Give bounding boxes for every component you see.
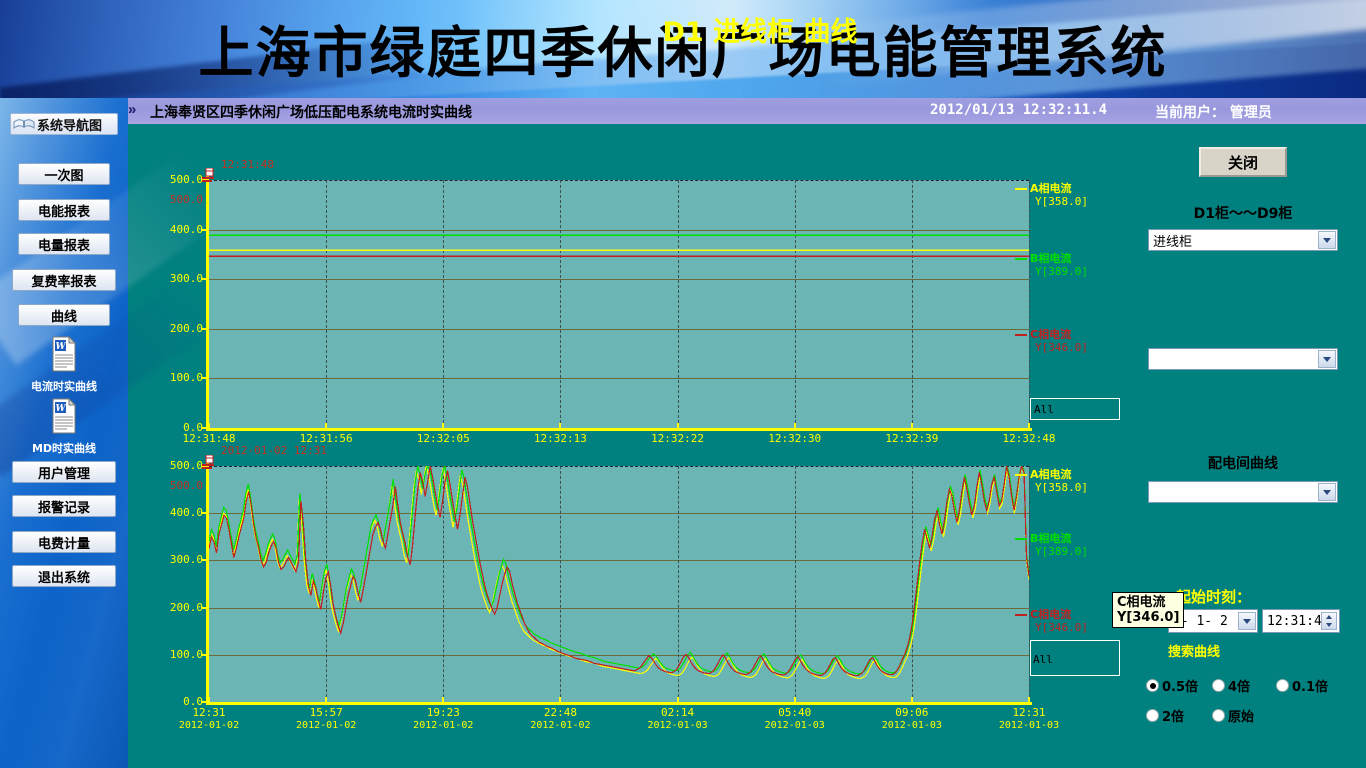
sidebar-btn-tariff-report[interactable]: 复费率报表 bbox=[12, 269, 116, 291]
radio-dot-icon bbox=[1212, 679, 1225, 692]
legend-entry-value: Y[358.0] bbox=[1030, 195, 1088, 208]
start-time-picker[interactable]: 12:31:48 bbox=[1262, 609, 1340, 633]
search-curve-label: 搜索曲线 bbox=[1168, 641, 1220, 660]
legend-color-swatch bbox=[1015, 538, 1027, 540]
x-tick-sublabel: 2012-01-02 bbox=[284, 720, 368, 731]
grid-line-horizontal bbox=[209, 230, 1029, 231]
x-tick-sublabel: 2012-01-02 bbox=[518, 720, 602, 731]
sidebar-btn-curve-label: 曲线 bbox=[51, 306, 77, 325]
x-tick-mark bbox=[1028, 697, 1030, 702]
x-tick-mark bbox=[325, 423, 327, 428]
sidebar-btn-tariff-report-label: 复费率报表 bbox=[31, 271, 96, 290]
sidebar-nav-header-label: 系统导航图 bbox=[37, 115, 102, 134]
sidebar-btn-energy-report[interactable]: 电能报表 bbox=[18, 199, 110, 221]
cabinet-select-d1-d9-value: 进线柜 bbox=[1153, 231, 1192, 250]
x-tick-mark bbox=[794, 697, 796, 702]
zoom-radio-0_5x-label: 0.5倍 bbox=[1162, 676, 1198, 695]
chevron-down-icon[interactable] bbox=[1318, 231, 1336, 249]
sidebar-btn-alarm-log[interactable]: 报警记录 bbox=[12, 495, 116, 517]
zoom-radio-original[interactable]: 原始 bbox=[1212, 706, 1254, 725]
legend-entry-name: B相电流 bbox=[1030, 532, 1088, 545]
sidebar-icon-current-realtime-curve-label: 电流时实曲线 bbox=[18, 378, 110, 394]
x-tick-label: 12:32:05 bbox=[401, 432, 485, 445]
x-tick-label: 12:32:30 bbox=[753, 432, 837, 445]
x-axis bbox=[206, 428, 1032, 431]
close-button-label: 关闭 bbox=[1228, 152, 1258, 173]
chevron-down-icon[interactable] bbox=[1318, 483, 1336, 501]
legend-color-swatch bbox=[1015, 334, 1027, 336]
sidebar-icon-current-realtime-curve[interactable]: W 电流时实曲线 bbox=[18, 336, 110, 394]
legend-entry-value: Y[389.0] bbox=[1030, 265, 1088, 278]
zoom-radio-0_1x[interactable]: 0.1倍 bbox=[1276, 676, 1328, 695]
series-canvas bbox=[209, 466, 1029, 702]
legend-entry-phase-c[interactable]: C相电流Y[346.0] bbox=[1030, 608, 1088, 634]
grid-line-vertical bbox=[678, 466, 679, 702]
x-tick-label: 12:31 bbox=[987, 706, 1071, 719]
cursor-time-stamp: 12:31:48 bbox=[221, 158, 274, 171]
word-document-icon: W bbox=[47, 421, 81, 438]
legend-entry-value: Y[389.0] bbox=[1030, 545, 1088, 558]
x-tick-mark bbox=[911, 697, 913, 702]
x-tick-sublabel: 2012-01-03 bbox=[753, 720, 837, 731]
secondary-y-label: 500.0 bbox=[147, 479, 203, 492]
sidebar-btn-billing[interactable]: 电费计量 bbox=[12, 531, 116, 553]
sidebar-btn-user-management[interactable]: 用户管理 bbox=[12, 461, 116, 483]
y-tick-mark bbox=[201, 512, 207, 514]
radio-dot-icon bbox=[1276, 679, 1289, 692]
grid-line-horizontal bbox=[209, 608, 1029, 609]
breadcrumb-bar: » 上海奉贤区四季休闲广场低压配电系统电流时实曲线 2012/01/13 12:… bbox=[0, 98, 1366, 124]
x-tick-mark bbox=[208, 697, 210, 702]
x-tick-sublabel: 2012-01-03 bbox=[636, 720, 720, 731]
x-tick-label: 12:32:39 bbox=[870, 432, 954, 445]
y-tick-mark bbox=[201, 465, 207, 467]
legend-entry-phase-b[interactable]: B相电流Y[389.0] bbox=[1030, 252, 1088, 278]
origin-time-stamp: 2012-01-02 12:31 bbox=[221, 444, 327, 457]
x-tick-label: 19:23 bbox=[401, 706, 485, 719]
all-series-box-bottom[interactable]: All bbox=[1030, 648, 1120, 670]
legend-entry-name: C相电流 bbox=[1030, 608, 1088, 621]
y-tick-label: 500.0 bbox=[147, 459, 203, 472]
grid-line-horizontal bbox=[209, 279, 1029, 280]
legend-color-swatch bbox=[1015, 258, 1027, 260]
sidebar-btn-alarm-log-label: 报警记录 bbox=[38, 497, 90, 516]
grid-line-horizontal bbox=[209, 513, 1029, 514]
x-tick-sublabel: 2012-01-02 bbox=[401, 720, 485, 731]
zoom-radio-0_1x-label: 0.1倍 bbox=[1292, 676, 1328, 695]
legend-color-swatch bbox=[1015, 188, 1027, 190]
x-tick-label: 12:32:13 bbox=[518, 432, 602, 445]
grid-line-horizontal bbox=[209, 378, 1029, 379]
sidebar-btn-exit[interactable]: 退出系统 bbox=[12, 565, 116, 587]
grid-line-horizontal bbox=[209, 655, 1029, 656]
radio-dot-icon bbox=[1212, 709, 1225, 722]
grid-line-vertical bbox=[443, 180, 444, 428]
x-tick-sublabel: 2012-01-03 bbox=[987, 720, 1071, 731]
word-document-icon: W bbox=[47, 359, 81, 376]
x-tick-mark bbox=[677, 697, 679, 702]
series-line-phase-a bbox=[209, 466, 1029, 678]
sidebar-btn-exit-label: 退出系统 bbox=[38, 567, 90, 586]
tooltip-line-1: C相电流 bbox=[1117, 595, 1179, 610]
group3-label: 配电间曲线 bbox=[1148, 453, 1338, 473]
sidebar-btn-quantity-report-label: 电量报表 bbox=[38, 235, 90, 254]
all-series-box-top[interactable]: All bbox=[1030, 398, 1120, 420]
spinner-up-down-icon[interactable] bbox=[1321, 612, 1337, 630]
series-line-phase-b bbox=[209, 466, 1029, 674]
y-tick-mark bbox=[201, 701, 207, 703]
x-tick-mark bbox=[559, 697, 561, 702]
grid-line-horizontal bbox=[209, 180, 1029, 181]
grid-line-horizontal bbox=[209, 466, 1029, 467]
sidebar-btn-user-management-label: 用户管理 bbox=[38, 463, 90, 482]
x-tick-mark bbox=[911, 423, 913, 428]
x-tick-mark bbox=[559, 423, 561, 428]
book-icon bbox=[13, 117, 35, 131]
y-axis bbox=[206, 462, 209, 705]
all-series-box-bottom-label: All bbox=[1033, 653, 1053, 666]
all-series-box-top-label: All bbox=[1034, 403, 1054, 416]
chevron-right-icon: » bbox=[128, 101, 136, 118]
page-title: D1 进线柜 曲线 bbox=[560, 10, 960, 49]
y-tick-label: 0.0 bbox=[147, 421, 203, 434]
x-tick-mark bbox=[1028, 423, 1030, 428]
grid-line-vertical bbox=[678, 180, 679, 428]
x-tick-mark bbox=[794, 423, 796, 428]
grid-line-vertical bbox=[326, 180, 327, 428]
x-tick-label: 02:14 bbox=[636, 706, 720, 719]
grid-line-vertical bbox=[912, 180, 913, 428]
zoom-radio-0_5x[interactable]: 0.5倍 bbox=[1146, 676, 1198, 695]
y-tick-label: 300.0 bbox=[147, 553, 203, 566]
grid-line-vertical bbox=[326, 466, 327, 702]
x-tick-sublabel: 2012-01-02 bbox=[167, 720, 251, 731]
grid-line-horizontal bbox=[209, 329, 1029, 330]
y-tick-mark bbox=[201, 654, 207, 656]
grid-line-vertical bbox=[560, 180, 561, 428]
zoom-radio-4x[interactable]: 4倍 bbox=[1212, 676, 1250, 695]
series-line-phase-c bbox=[209, 466, 1029, 676]
y-tick-mark bbox=[201, 377, 207, 379]
legend-entry-value: Y[346.0] bbox=[1030, 341, 1088, 354]
legend-entry-value: Y[358.0] bbox=[1030, 481, 1088, 494]
legend-entry-phase-b[interactable]: B相电流Y[389.0] bbox=[1030, 532, 1088, 558]
legend-entry-name: C相电流 bbox=[1030, 328, 1088, 341]
x-axis bbox=[206, 702, 1032, 705]
x-tick-label: 15:57 bbox=[284, 706, 368, 719]
zoom-radio-2x-label: 2倍 bbox=[1162, 706, 1184, 725]
cabinet-select-d1-d9[interactable]: 进线柜 bbox=[1148, 229, 1338, 251]
y-tick-label: 100.0 bbox=[147, 371, 203, 384]
tooltip-line-2: Y[346.0] bbox=[1117, 610, 1179, 625]
app-root: 上海市绿庭四季休闲广场电能管理系统 » 上海奉贤区四季休闲广场低压配电系统电流时… bbox=[0, 0, 1366, 768]
x-tick-mark bbox=[208, 423, 210, 428]
legend-entry-phase-c[interactable]: C相电流Y[346.0] bbox=[1030, 328, 1088, 354]
grid-line-vertical bbox=[912, 466, 913, 702]
series-value-tooltip: C相电流 Y[346.0] bbox=[1112, 592, 1184, 628]
sidebar-btn-primary-diagram[interactable]: 一次图 bbox=[18, 163, 110, 185]
y-tick-mark bbox=[201, 607, 207, 609]
close-button[interactable]: 关闭 bbox=[1199, 147, 1287, 177]
cabinet-select-d10-d16[interactable] bbox=[1148, 348, 1338, 370]
chevron-down-icon[interactable] bbox=[1318, 350, 1336, 368]
current-user-label: 当前用户： 管理员 bbox=[1155, 102, 1272, 122]
radio-dot-icon bbox=[1146, 709, 1159, 722]
x-tick-mark bbox=[442, 423, 444, 428]
grid-line-vertical bbox=[795, 180, 796, 428]
cursor-marker-icon bbox=[202, 455, 216, 471]
x-tick-label: 12:31 bbox=[167, 706, 251, 719]
grid-line-vertical bbox=[795, 466, 796, 702]
chevron-down-icon[interactable] bbox=[1238, 612, 1256, 630]
legend-entry-name: B相电流 bbox=[1030, 252, 1088, 265]
legend-entry-phase-a[interactable]: A相电流Y[358.0] bbox=[1030, 468, 1088, 494]
series-canvas bbox=[209, 180, 1029, 428]
legend-entry-phase-a[interactable]: A相电流Y[358.0] bbox=[1030, 182, 1088, 208]
y-tick-label: 200.0 bbox=[147, 601, 203, 614]
zoom-radio-4x-label: 4倍 bbox=[1228, 676, 1250, 695]
sidebar-btn-energy-report-label: 电能报表 bbox=[38, 201, 90, 220]
sidebar-icon-md-realtime-curve[interactable]: W MD时实曲线 bbox=[18, 398, 110, 456]
x-tick-mark bbox=[442, 697, 444, 702]
grid-line-vertical bbox=[443, 466, 444, 702]
sidebar-nav-header[interactable]: 系统导航图 bbox=[10, 113, 118, 135]
legend-color-swatch bbox=[1015, 614, 1027, 616]
x-tick-label: 22:48 bbox=[518, 706, 602, 719]
sidebar-btn-quantity-report[interactable]: 电量报表 bbox=[18, 233, 110, 255]
group1-label: D1柜～～D9柜 bbox=[1148, 203, 1338, 223]
zoom-radio-original-label: 原始 bbox=[1228, 706, 1254, 725]
svg-text:W: W bbox=[55, 404, 66, 414]
sidebar-btn-curve[interactable]: 曲线 bbox=[18, 304, 110, 326]
y-tick-mark bbox=[201, 278, 207, 280]
start-time-label: 起始时刻： bbox=[1176, 586, 1251, 607]
x-tick-sublabel: 2012-01-03 bbox=[870, 720, 954, 731]
grid-line-vertical bbox=[1029, 180, 1030, 428]
y-tick-label: 0.0 bbox=[147, 695, 203, 708]
legend-entry-name: A相电流 bbox=[1030, 468, 1088, 481]
x-tick-label: 12:31:56 bbox=[284, 432, 368, 445]
y-tick-label: 400.0 bbox=[147, 506, 203, 519]
clock-display: 2012/01/13 12:32:11.4 bbox=[930, 102, 1107, 118]
svg-text:W: W bbox=[55, 342, 66, 352]
x-tick-label: 12:32:48 bbox=[987, 432, 1071, 445]
x-tick-label: 12:32:22 bbox=[636, 432, 720, 445]
grid-line-horizontal bbox=[209, 560, 1029, 561]
sidebar-icon-md-realtime-curve-label: MD时实曲线 bbox=[18, 440, 110, 456]
x-tick-mark bbox=[677, 423, 679, 428]
x-tick-label: 05:40 bbox=[753, 706, 837, 719]
plot-area[interactable] bbox=[209, 180, 1029, 428]
x-tick-label: 09:06 bbox=[870, 706, 954, 719]
sidebar-btn-primary-diagram-label: 一次图 bbox=[44, 165, 83, 184]
radio-dot-icon bbox=[1146, 679, 1159, 692]
legend-color-swatch bbox=[1015, 474, 1027, 476]
legend-entry-name: A相电流 bbox=[1030, 182, 1088, 195]
zoom-radio-2x[interactable]: 2倍 bbox=[1146, 706, 1184, 725]
y-tick-label: 100.0 bbox=[147, 648, 203, 661]
distribution-room-curve-select[interactable] bbox=[1148, 481, 1338, 503]
y-tick-mark bbox=[201, 559, 207, 561]
legend-entry-value: Y[346.0] bbox=[1030, 621, 1088, 634]
sidebar-btn-billing-label: 电费计量 bbox=[38, 533, 90, 552]
x-tick-mark bbox=[325, 697, 327, 702]
plot-area[interactable] bbox=[209, 466, 1029, 702]
breadcrumb-text: 上海奉贤区四季休闲广场低压配电系统电流时实曲线 bbox=[150, 102, 472, 122]
x-tick-label: 12:31:48 bbox=[167, 432, 251, 445]
grid-line-vertical bbox=[560, 466, 561, 702]
y-tick-mark bbox=[201, 427, 207, 429]
